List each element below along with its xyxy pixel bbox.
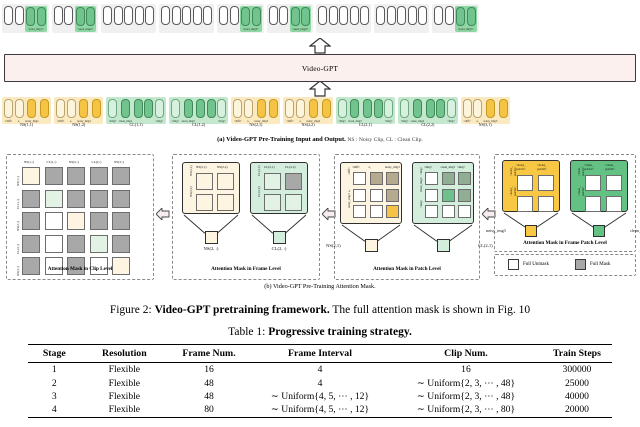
frame-col-label: CL(2,1) (264, 165, 275, 169)
table-header-cell: Train Steps (542, 345, 612, 363)
output-token (182, 6, 191, 25)
frame-level-title: Attention Mask in Frame Level (172, 266, 320, 272)
table-cell: 16 (168, 363, 250, 377)
token-glyph (67, 99, 76, 118)
mask-cell (285, 194, 302, 211)
token-glyph (155, 99, 164, 118)
token-glyph (447, 99, 456, 118)
table-cell: 40000 (542, 390, 612, 403)
output-token-row: <pred_img1><pred_img2><pred_img3><pred_i… (2, 4, 638, 33)
output-token (360, 6, 369, 25)
clip-row-label: CL(2,:) (16, 244, 20, 254)
input-token: <diff> (4, 99, 13, 123)
panel-a-caption-main: (a) Video-GPT Pre-Training Input and Out… (217, 136, 346, 143)
token-glyph (172, 6, 181, 25)
panel-a-input-output: <pred_img1><pred_img2><pred_img3><pred_i… (0, 0, 640, 148)
output-token (219, 6, 228, 25)
output-token (203, 6, 212, 25)
prediction-token (467, 7, 476, 26)
table-cell: 4 (250, 376, 390, 389)
token-glyph (196, 99, 205, 118)
output-token (279, 6, 288, 25)
token-glyph (318, 6, 327, 25)
group-caption: NS(1,1) (2, 122, 51, 127)
token-glyph (486, 99, 495, 118)
patch-node-box (437, 239, 450, 252)
arrow-up-output-icon (309, 38, 331, 54)
prediction-token (456, 7, 465, 26)
prediction-highlight: <pred_img4> (290, 6, 312, 32)
token-glyph (257, 99, 266, 118)
mask-cell (386, 205, 399, 218)
token-glyph (387, 6, 396, 25)
patch-row-label: <img> (419, 167, 423, 175)
mask-cell (45, 167, 63, 185)
mask-cell (458, 189, 471, 202)
token-glyph (27, 99, 36, 118)
input-token (144, 99, 153, 119)
input-token (426, 99, 435, 119)
prediction-token (26, 7, 35, 26)
input-token (92, 99, 101, 119)
table-cell: ∼ Uniform{2, 3, ⋯ , 48} (390, 390, 542, 403)
output-token (318, 6, 327, 25)
mask-cell (517, 175, 533, 191)
input-token: noisy_img2 (77, 99, 91, 123)
output-token (350, 6, 359, 25)
patch-row-label: <diff> (347, 167, 351, 175)
token-glyph (121, 99, 130, 118)
token-glyph (360, 6, 369, 25)
clip-col-label: NS(3,:) (114, 160, 124, 164)
mask-cell (458, 172, 471, 185)
legend-unmask: Full Unmask (508, 259, 549, 270)
table-header-row: StageResolutionFrame Num.Frame IntervalC… (28, 345, 612, 363)
input-token: <img> (338, 99, 347, 123)
figure-caption-label: Figure 2: (110, 304, 152, 316)
output-token (339, 6, 348, 25)
table-caption-title: Progressive training strategy. (268, 326, 412, 338)
input-token: a₂ (244, 99, 253, 123)
prediction-label: <pred_img2> (77, 27, 93, 31)
token-glyph (397, 6, 406, 25)
mask-cell (425, 189, 438, 202)
mask-cell (67, 212, 85, 230)
group-caption: NS(1,2) (54, 122, 103, 127)
input-token (269, 99, 278, 119)
patch-col-label: clean_img3 (441, 165, 455, 169)
mask-cell (67, 167, 85, 185)
frame-patch-row-label: <noisy_ patch1> (509, 166, 517, 176)
legend-mask-swatch (575, 259, 586, 270)
token-glyph (161, 6, 170, 25)
token-glyph (124, 6, 133, 25)
prediction-highlight: <pred_img1> (25, 6, 47, 32)
output-token (124, 6, 133, 25)
group-caption: CL(1,2) (169, 122, 229, 127)
input-token: <img> (400, 99, 409, 123)
input-token: noisy_img1 (25, 99, 39, 123)
token-glyph (363, 99, 372, 118)
mask-cell (217, 194, 234, 211)
mask-cell (386, 189, 399, 202)
prediction-label: <pred_img4> (292, 27, 308, 31)
output-token (445, 6, 454, 25)
token-glyph (350, 99, 359, 118)
clip-col-label: CL(2,:) (92, 160, 102, 164)
token-glyph (171, 99, 180, 118)
frame-patch-mask-grid (517, 175, 554, 212)
frame-patch-row-label: <clean_ patch2> (577, 186, 585, 196)
input-token (436, 99, 445, 119)
token-glyph (193, 6, 202, 25)
panel-b-caption: (b) Video-GPT Pre-Training Attention Mas… (0, 283, 640, 290)
table-row: 2Flexible484∼ Uniform{2, 3, ⋯ , 48}25000 (28, 376, 612, 389)
clip-level-mask-grid (22, 167, 130, 275)
token-glyph (384, 99, 393, 118)
mask-cell (217, 173, 234, 190)
frame-row-label: NS(2,1) (189, 165, 193, 176)
output-token (269, 6, 278, 25)
progressive-training-table: StageResolutionFrame Num.Frame IntervalC… (28, 344, 612, 418)
table-cell: 3 (28, 390, 81, 403)
output-token (376, 6, 385, 25)
prediction-label: <pred_img1> (28, 27, 44, 31)
prediction-token (241, 7, 250, 26)
output-token (397, 6, 406, 25)
frame-node-label: NS(2, :) (195, 247, 227, 251)
patch-col-label: <diff> (352, 165, 360, 169)
patch-col-label: <img> (424, 165, 432, 169)
figure-caption-title: Video-GPT pretraining framework. (155, 304, 330, 316)
prediction-highlight: <pred_img2> (75, 6, 97, 32)
mask-cell (45, 190, 63, 208)
token-glyph (426, 99, 435, 118)
table-row: 1Flexible16416300000 (28, 363, 612, 377)
mask-cell (606, 196, 622, 212)
token-glyph (103, 6, 112, 25)
token-glyph (79, 99, 88, 118)
output-token (408, 6, 417, 25)
mask-cell (458, 205, 471, 218)
patch-level-mask-grid (353, 172, 399, 218)
prediction-token (86, 7, 95, 26)
token-glyph (434, 6, 443, 25)
mask-cell (585, 175, 601, 191)
token-glyph (203, 6, 212, 25)
token-glyph (134, 99, 143, 118)
table-cell: 1 (28, 363, 81, 377)
token-glyph (40, 99, 49, 118)
patch-row-label: clean_img3 (419, 177, 423, 191)
figure-caption-rest: The full attention mask is shown in Fig.… (332, 304, 530, 316)
table-cell: 16 (390, 363, 542, 377)
token-glyph (376, 6, 385, 25)
frame-node-label: CL(2, :) (263, 247, 295, 251)
patch-node-label: NS(2,1) (326, 244, 341, 248)
group-caption: CL(1,1) (106, 122, 166, 127)
output-token (387, 6, 396, 25)
input-token: <diff> (56, 99, 65, 123)
patch-row-label: noisy_img3 (347, 193, 351, 208)
token-glyph (217, 99, 226, 118)
prediction-token (291, 7, 300, 26)
legend-unmask-label: Full Unmask (523, 262, 549, 267)
token-glyph (285, 99, 294, 118)
token-glyph (436, 99, 445, 118)
panel-a-caption-legend: NS : Noisy Clip, CL : Clean Clip. (347, 137, 422, 143)
token-glyph (279, 6, 288, 25)
frame-patch-row-label: <clean_ patch1> (577, 166, 585, 176)
table-cell: 80 (168, 403, 250, 417)
input-group-ns12: <diff>a₁noisy_img2NS(1,2) (54, 97, 103, 124)
figure-caption: Figure 2: Video-GPT pretraining framewor… (0, 303, 640, 318)
token-glyph (230, 6, 239, 25)
table-cell: ∼ Uniform{4, 5, ⋯ , 12} (250, 390, 390, 403)
token-glyph (145, 6, 154, 25)
input-group-cl12: <img>clean_img2<img>CL(1,2) (169, 97, 229, 124)
mask-cell (370, 205, 383, 218)
mask-cell (90, 167, 108, 185)
input-group-cl21: <img>clean_img3<img>CL(2,1) (336, 97, 396, 124)
mask-cell (442, 205, 455, 218)
mask-cell (517, 196, 533, 212)
mask-cell (442, 189, 455, 202)
output-token (418, 6, 427, 25)
mask-cell (112, 235, 130, 253)
input-token: <diff> (233, 99, 242, 123)
table-cell: Flexible (81, 390, 169, 403)
input-token: clean_img1 (119, 99, 133, 123)
input-group-cl22: <img>clean_img4<img>CL(2,2) (398, 97, 458, 124)
output-token (54, 6, 63, 25)
patch-col-label: noisy_img3 (385, 165, 400, 169)
mask-cell (538, 175, 554, 191)
output-token (161, 6, 170, 25)
token-glyph (15, 6, 24, 25)
mask-cell (67, 190, 85, 208)
token-glyph (350, 6, 359, 25)
frame-patch-node-label: clean_img3 (630, 229, 640, 233)
input-token (322, 99, 331, 119)
output-group: <pred_img4> (267, 4, 314, 33)
output-token (4, 6, 13, 25)
input-token-row: <diff>a₁noisy_img1NS(1,1)<diff>a₁noisy_i… (2, 97, 638, 124)
clip-row-label: NS(1,:) (16, 176, 20, 186)
frame-row-label: CL(2,2) (257, 186, 261, 197)
frame-patch-node-label: noisy_img3 (486, 229, 506, 233)
input-token: <img> (155, 99, 164, 123)
frame-patch-mask-grid (585, 175, 622, 212)
prediction-highlight: <pred_img5> (455, 6, 477, 32)
mask-cell (22, 167, 40, 185)
token-glyph (400, 99, 409, 118)
clip-col-label: CL(1,:) (47, 160, 57, 164)
table-row: 4Flexible80∼ Uniform{4, 5, ⋯ , 12}∼ Unif… (28, 403, 612, 417)
mask-cell (264, 173, 281, 190)
clip-row-label: CL(1,:) (16, 199, 20, 209)
token-glyph (244, 99, 253, 118)
patch-row-label: <img> (419, 200, 423, 208)
token-glyph (135, 6, 144, 25)
input-token: <img> (384, 99, 393, 123)
mask-cell (386, 172, 399, 185)
input-token: a₂ (296, 99, 305, 123)
patch-node-box (365, 239, 378, 252)
mask-cell (425, 172, 438, 185)
token-glyph (374, 99, 383, 118)
legend-mask: Full Mask (575, 259, 610, 270)
group-caption: CL(2,2) (398, 122, 458, 127)
frame-col-label: NS(2,2) (217, 165, 228, 169)
output-token (434, 6, 443, 25)
token-glyph (418, 6, 427, 25)
input-token: <img> (217, 99, 226, 123)
table-cell: Flexible (81, 376, 169, 389)
token-glyph (64, 6, 73, 25)
table-caption: Table 1: Progressive training strategy. (0, 325, 640, 340)
mask-cell (22, 212, 40, 230)
mask-cell (353, 205, 366, 218)
input-token: <img> (108, 99, 117, 123)
frame-patch-node-box (525, 225, 537, 237)
table-body: 1Flexible164163000002Flexible484∼ Unifor… (28, 363, 612, 418)
mask-cell (264, 194, 281, 211)
table-cell: 300000 (542, 363, 612, 377)
token-glyph (269, 99, 278, 118)
token-glyph (329, 6, 338, 25)
input-token: <img> (171, 99, 180, 123)
output-group: <pred_img5> (432, 4, 479, 33)
group-caption: NS(3,1) (461, 122, 510, 127)
frame-patch-level-title: Attention Mask in Frame Patch Level (494, 240, 636, 246)
token-glyph (184, 99, 193, 118)
input-token: a₁ (15, 99, 24, 123)
figure-page: <pred_img1><pred_img2><pred_img3><pred_i… (0, 0, 640, 427)
mask-cell (67, 235, 85, 253)
table-cell: 48 (168, 376, 250, 389)
table-caption-label: Table 1: (228, 326, 265, 338)
table-cell: 2 (28, 376, 81, 389)
token-glyph (309, 99, 318, 118)
token-glyph (219, 6, 228, 25)
output-token (193, 6, 202, 25)
input-token: <diff> (463, 99, 472, 123)
mask-cell (285, 173, 302, 190)
input-token (207, 99, 216, 119)
table-header-cell: Clip Num. (390, 345, 542, 363)
mask-cell (442, 172, 455, 185)
mask-cell (22, 190, 40, 208)
frame-row-label: NS(2,2) (189, 186, 193, 197)
table-cell: 48 (168, 390, 250, 403)
token-glyph (269, 6, 278, 25)
input-token: clean_img4 (411, 99, 425, 123)
panel-a-caption: (a) Video-GPT Pre-Training Input and Out… (0, 136, 640, 143)
table-cell: ∼ Uniform{4, 5, ⋯ , 12} (250, 403, 390, 417)
output-group (159, 4, 214, 33)
mask-cell (370, 172, 383, 185)
token-glyph (473, 99, 482, 118)
frame-col-label: CL(2,2) (285, 165, 296, 169)
token-glyph (339, 6, 348, 25)
output-group (101, 4, 156, 33)
mask-cell (90, 190, 108, 208)
input-token (374, 99, 383, 119)
token-glyph (322, 99, 331, 118)
video-gpt-box: Video-GPT (4, 54, 636, 82)
patch-level-title: Attention Mask in Patch Level (334, 266, 480, 272)
input-group-ns21: <diff>a₂noisy_img3NS(2,1) (231, 97, 280, 124)
output-group: <pred_img3> (217, 4, 264, 33)
mask-cell (90, 212, 108, 230)
clip-row-label: NS(2,:) (16, 221, 20, 231)
input-token (40, 99, 49, 119)
token-glyph (108, 99, 117, 118)
prediction-token (252, 7, 261, 26)
output-token (172, 6, 181, 25)
group-caption: CL(2,1) (336, 122, 396, 127)
frame-node-box (205, 231, 218, 244)
mask-cell (196, 173, 213, 190)
table-cell: 4 (250, 363, 390, 377)
frame-patch-row-label: <noisy_ patch2> (509, 186, 517, 196)
legend-mask-label: Full Mask (590, 262, 610, 267)
legend-unmask-swatch (508, 259, 519, 270)
clip-col-label: NS(1,:) (24, 160, 34, 164)
table-cell: 20000 (542, 403, 612, 417)
token-glyph (15, 99, 24, 118)
table-cell: ∼ Uniform{2, 3, ⋯ , 80} (390, 403, 542, 417)
input-token: noisy_img4 (306, 99, 320, 123)
patch-col-label: a₂ (369, 165, 371, 169)
input-token: <diff> (285, 99, 294, 123)
mask-cell (112, 190, 130, 208)
input-token: <img> (447, 99, 456, 123)
table-row: 3Flexible48∼ Uniform{4, 5, ⋯ , 12}∼ Unif… (28, 390, 612, 403)
output-group: <pred_img1> (2, 4, 49, 33)
frame-node-box (273, 231, 286, 244)
token-glyph (4, 99, 13, 118)
input-token: a₁ (67, 99, 76, 123)
mask-cell (353, 189, 366, 202)
table-header-cell: Stage (28, 345, 81, 363)
output-token (329, 6, 338, 25)
output-token (64, 6, 73, 25)
mask-cell (538, 196, 554, 212)
output-token (15, 6, 24, 25)
arrow-up-input-icon (309, 81, 331, 97)
token-glyph (499, 99, 508, 118)
table-cell: 25000 (542, 376, 612, 389)
frame-row-label: CL(2,1) (257, 165, 261, 176)
output-group (374, 4, 429, 33)
mask-cell (606, 175, 622, 191)
frame-patch-col-label: <noisy_ patch2> (537, 163, 547, 171)
table-cell: ∼ Uniform{2, 3, ⋯ , 48} (390, 376, 542, 389)
input-group-ns31: <diff>a₃noisy_img5NS(3,1) (461, 97, 510, 124)
token-glyph (296, 99, 305, 118)
input-token: a₃ (473, 99, 482, 123)
token-glyph (144, 99, 153, 118)
mask-cell (45, 235, 63, 253)
prediction-label: <pred_img5> (458, 27, 474, 31)
input-group-ns11: <diff>a₁noisy_img1NS(1,1) (2, 97, 51, 124)
mask-cell (112, 212, 130, 230)
output-token (135, 6, 144, 25)
prediction-token (37, 7, 46, 26)
output-token (103, 6, 112, 25)
